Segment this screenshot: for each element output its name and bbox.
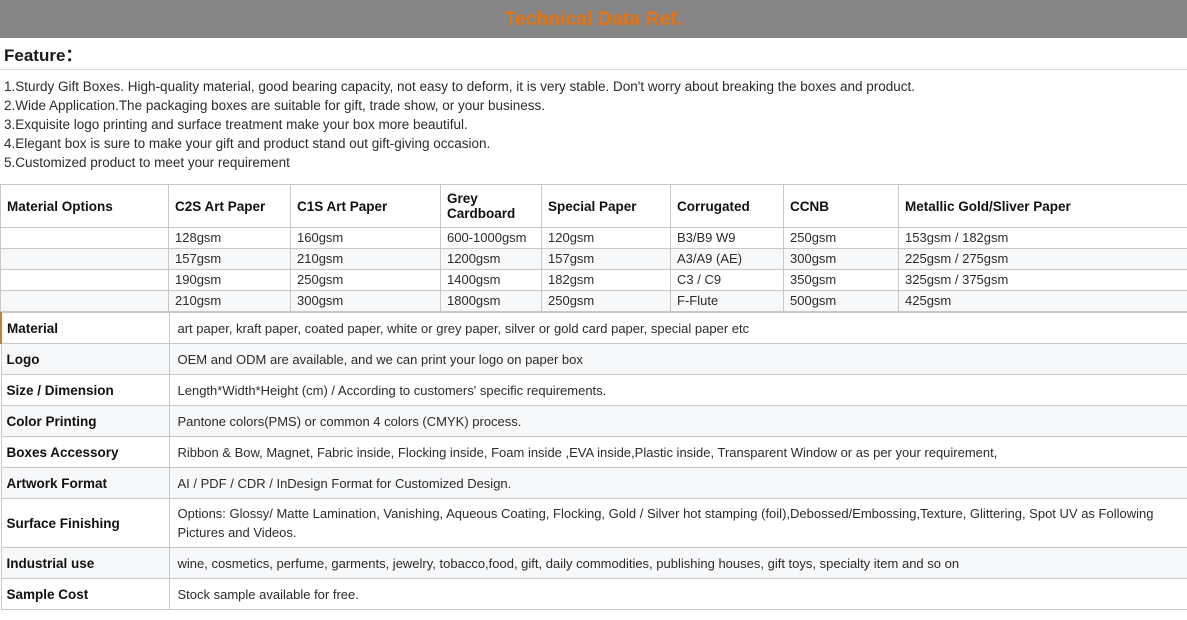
technical-data-sheet: Technical Data Ref. Feature： 1.Sturdy Gi… <box>0 0 1187 620</box>
title-banner: Technical Data Ref. <box>0 0 1187 38</box>
column-header: Material Options <box>1 185 169 228</box>
spec-value: AI / PDF / CDR / InDesign Format for Cus… <box>169 468 1187 499</box>
table-row: 210gsm 300gsm 1800gsm 250gsm F-Flute 500… <box>1 291 1187 312</box>
table-cell: 250gsm <box>542 291 671 312</box>
table-cell: 250gsm <box>784 228 899 249</box>
table-cell: 225gsm / 275gsm <box>899 249 1187 270</box>
table-cell: 210gsm <box>291 249 441 270</box>
spec-value: Stock sample available for free. <box>169 579 1187 610</box>
bottom-spacer <box>0 610 1187 620</box>
page-title: Technical Data Ref. <box>505 10 683 29</box>
spec-row-material: Material art paper, kraft paper, coated … <box>1 313 1187 344</box>
feature-list: 1.Sturdy Gift Boxes. High-quality materi… <box>0 70 1187 178</box>
spec-label: Surface Finishing <box>1 499 169 548</box>
spec-label: Artwork Format <box>1 468 169 499</box>
table-cell: 300gsm <box>784 249 899 270</box>
table-cell: 182gsm <box>542 270 671 291</box>
feature-item: 1.Sturdy Gift Boxes. High-quality materi… <box>4 77 1183 96</box>
table-cell: 1800gsm <box>441 291 542 312</box>
spec-label: Industrial use <box>1 548 169 579</box>
table-cell: 210gsm <box>169 291 291 312</box>
column-header: CCNB <box>784 185 899 228</box>
spec-label: Size / Dimension <box>1 375 169 406</box>
table-cell: 425gsm <box>899 291 1187 312</box>
table-cell: 157gsm <box>169 249 291 270</box>
spec-row-surface-finishing: Surface Finishing Options: Glossy/ Matte… <box>1 499 1187 548</box>
spec-value: Length*Width*Height (cm) / According to … <box>169 375 1187 406</box>
spec-value: Ribbon & Bow, Magnet, Fabric inside, Flo… <box>169 437 1187 468</box>
table-cell: 350gsm <box>784 270 899 291</box>
table-cell: F-Flute <box>671 291 784 312</box>
specification-table: Material art paper, kraft paper, coated … <box>0 312 1187 610</box>
table-cell: 153gsm / 182gsm <box>899 228 1187 249</box>
column-header: Grey Cardboard <box>441 185 542 228</box>
feature-item: 3.Exquisite logo printing and surface tr… <box>4 115 1183 134</box>
table-cell: 160gsm <box>291 228 441 249</box>
spec-label: Logo <box>1 344 169 375</box>
table-cell: 190gsm <box>169 270 291 291</box>
spec-value: Pantone colors(PMS) or common 4 colors (… <box>169 406 1187 437</box>
column-header: C2S Art Paper <box>169 185 291 228</box>
table-cell <box>1 228 169 249</box>
table-row: 157gsm 210gsm 1200gsm 157gsm A3/A9 (AE) … <box>1 249 1187 270</box>
table-cell: 120gsm <box>542 228 671 249</box>
spec-label: Material <box>1 313 169 344</box>
column-header: Special Paper <box>542 185 671 228</box>
spec-value: art paper, kraft paper, coated paper, wh… <box>169 313 1187 344</box>
table-cell <box>1 270 169 291</box>
material-options-table: Material Options C2S Art Paper C1S Art P… <box>0 184 1187 312</box>
table-cell: 1200gsm <box>441 249 542 270</box>
spec-label: Boxes Accessory <box>1 437 169 468</box>
table-cell <box>1 291 169 312</box>
column-header: Metallic Gold/Sliver Paper <box>899 185 1187 228</box>
feature-heading: Feature： <box>4 41 82 66</box>
spec-row-size-dimension: Size / Dimension Length*Width*Height (cm… <box>1 375 1187 406</box>
table-cell: B3/B9 W9 <box>671 228 784 249</box>
spec-row-boxes-accessory: Boxes Accessory Ribbon & Bow, Magnet, Fa… <box>1 437 1187 468</box>
table-cell: 325gsm / 375gsm <box>899 270 1187 291</box>
spec-value: wine, cosmetics, perfume, garments, jewe… <box>169 548 1187 579</box>
table-cell: 600-1000gsm <box>441 228 542 249</box>
feature-heading-row: Feature： <box>0 38 1187 70</box>
table-header-row: Material Options C2S Art Paper C1S Art P… <box>1 185 1187 228</box>
spec-row-color-printing: Color Printing Pantone colors(PMS) or co… <box>1 406 1187 437</box>
table-row: 190gsm 250gsm 1400gsm 182gsm C3 / C9 350… <box>1 270 1187 291</box>
table-cell <box>1 249 169 270</box>
spec-value: Options: Glossy/ Matte Lamination, Vanis… <box>169 499 1187 548</box>
table-cell: C3 / C9 <box>671 270 784 291</box>
column-header: Corrugated <box>671 185 784 228</box>
table-cell: 250gsm <box>291 270 441 291</box>
spec-row-artwork-format: Artwork Format AI / PDF / CDR / InDesign… <box>1 468 1187 499</box>
table-row: 128gsm 160gsm 600-1000gsm 120gsm B3/B9 W… <box>1 228 1187 249</box>
spec-row-industrial-use: Industrial use wine, cosmetics, perfume,… <box>1 548 1187 579</box>
table-cell: 500gsm <box>784 291 899 312</box>
feature-item: 4.Elegant box is sure to make your gift … <box>4 134 1183 153</box>
spec-row-logo: Logo OEM and ODM are available, and we c… <box>1 344 1187 375</box>
table-cell: 128gsm <box>169 228 291 249</box>
feature-item: 5.Customized product to meet your requir… <box>4 153 1183 172</box>
table-cell: 300gsm <box>291 291 441 312</box>
table-cell: 1400gsm <box>441 270 542 291</box>
spec-label: Color Printing <box>1 406 169 437</box>
column-header: C1S Art Paper <box>291 185 441 228</box>
spec-label: Sample Cost <box>1 579 169 610</box>
table-cell: 157gsm <box>542 249 671 270</box>
table-cell: A3/A9 (AE) <box>671 249 784 270</box>
spec-value: OEM and ODM are available, and we can pr… <box>169 344 1187 375</box>
feature-item: 2.Wide Application.The packaging boxes a… <box>4 96 1183 115</box>
spec-row-sample-cost: Sample Cost Stock sample available for f… <box>1 579 1187 610</box>
